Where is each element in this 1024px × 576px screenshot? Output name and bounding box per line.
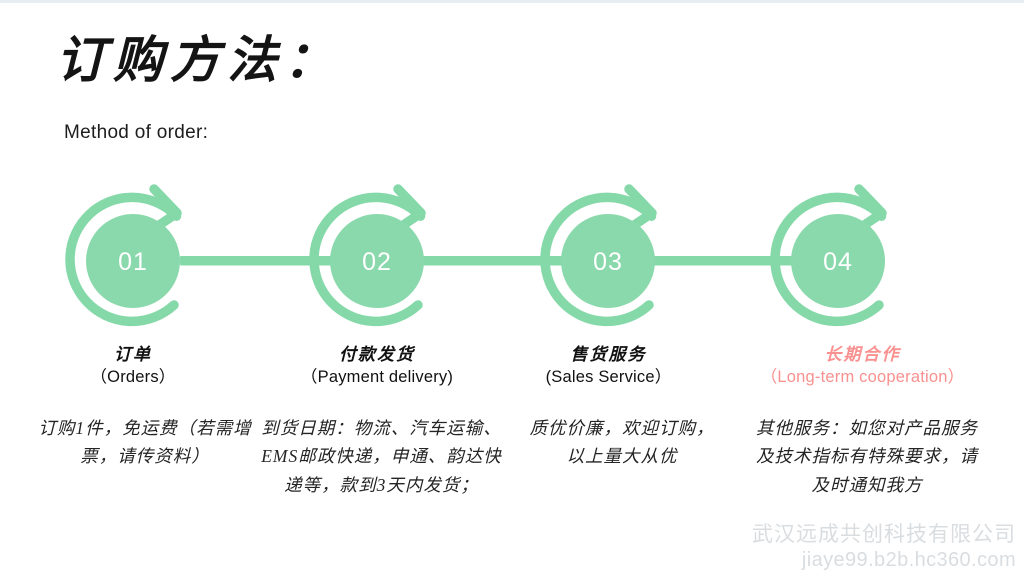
step-number-04: 04 (823, 248, 853, 276)
flow-step-02[interactable]: 02 (314, 189, 424, 321)
step-number-02: 02 (362, 248, 392, 276)
step-label-en-04: （Long-term cooperation） (720, 366, 1005, 390)
page-title-chinese: 订购方法： (56, 32, 341, 90)
flow-step-04[interactable]: 04 (775, 189, 885, 321)
step-label-group-01: 订单 （Orders） (33, 344, 233, 390)
watermark-url: jiaye99.b2b.hc360.com (752, 548, 1016, 572)
step-number-01: 01 (118, 248, 148, 276)
step-label-cn-03: 售货服务 (506, 344, 711, 366)
step-body-01: 订购1件，免运费（若需增票，请传资料） (34, 414, 256, 471)
step-label-en-02: （Payment delivery) (262, 366, 492, 390)
step-label-cn-04: 长期合作 (720, 344, 1005, 366)
flow-step-03[interactable]: 03 (545, 189, 655, 321)
step-label-en-03: (Sales Service） (506, 366, 711, 390)
watermark-company: 武汉远成共创科技有限公司 (752, 522, 1016, 548)
step-label-group-02: 付款发货 （Payment delivery) (262, 344, 492, 390)
step-body-02: 到货日期：物流、汽车运输、EMS邮政快递，申通、韵达快递等，款到3天内发货； (258, 414, 505, 499)
step-body-04: 其他服务：如您对产品服务及技术指标有特殊要求，请及时通知我方 (752, 414, 982, 499)
flow-step-01[interactable]: 01 (70, 189, 180, 321)
step-label-cn-02: 付款发货 (262, 344, 492, 366)
page-title-english: Method of order: (64, 122, 208, 144)
top-edge-strip (0, 0, 1024, 3)
watermark: 武汉远成共创科技有限公司 jiaye99.b2b.hc360.com (752, 522, 1016, 572)
step-label-en-01: （Orders） (33, 366, 233, 390)
step-body-03: 质优价廉，欢迎订购，以上量大从优 (522, 414, 722, 471)
order-process-flow-diagram: 01 02 03 04 (0, 165, 1024, 340)
step-label-group-04: 长期合作 （Long-term cooperation） (720, 344, 1005, 390)
step-label-cn-01: 订单 (33, 344, 233, 366)
flow-connectors (180, 256, 850, 266)
step-label-group-03: 售货服务 (Sales Service） (506, 344, 711, 390)
step-number-03: 03 (593, 248, 623, 276)
